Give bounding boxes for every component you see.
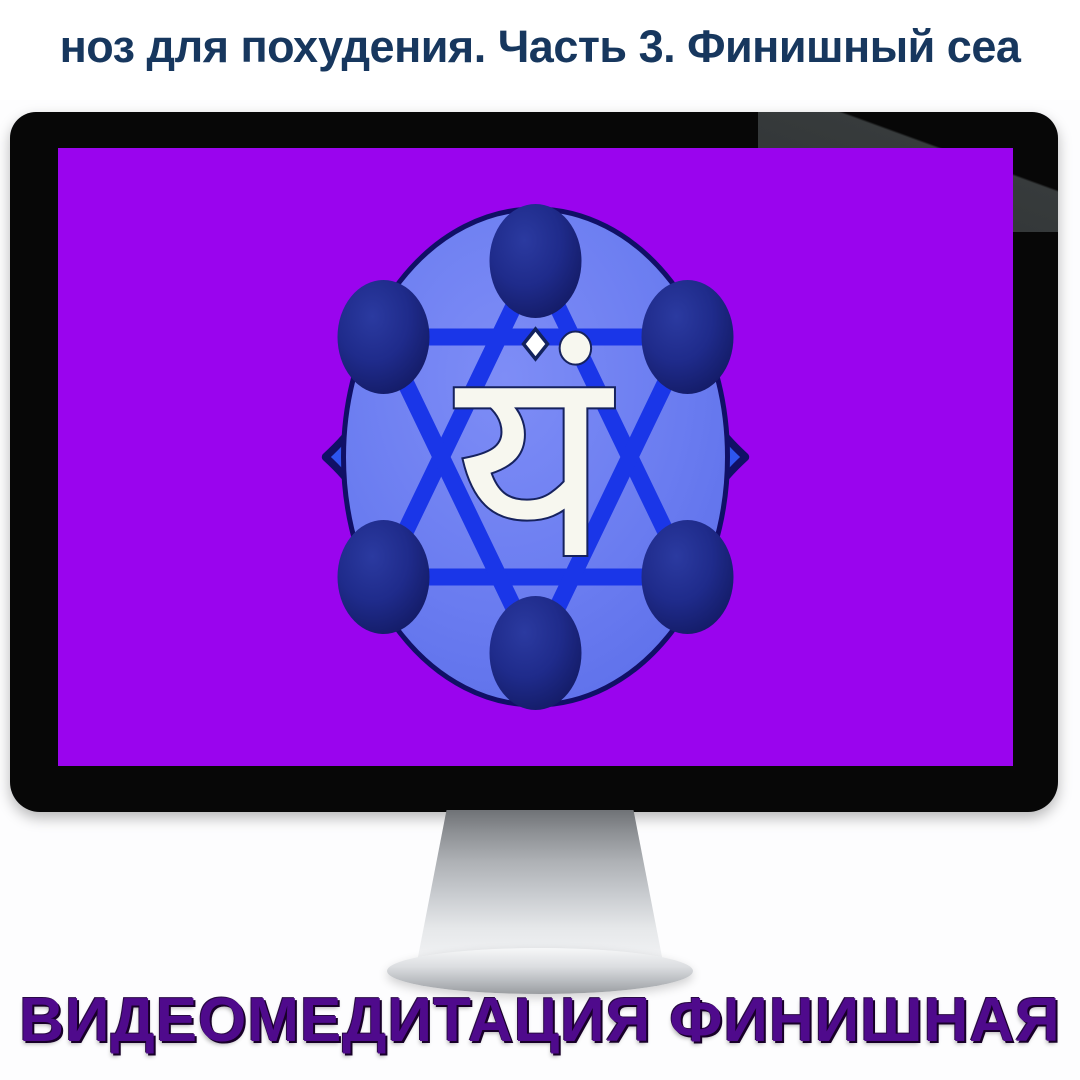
title-banner: ноз для похудения. Часть 3. Финишный сеа	[0, 0, 1080, 100]
chakra-mandala-illustration: यं	[58, 148, 1013, 766]
desktop-monitor: यं	[10, 112, 1058, 812]
promo-graphic-root: ноз для похудения. Часть 3. Финишный сеа	[0, 0, 1080, 1080]
caption-text: ВИДЕОМЕДИТАЦИЯ ФИНИШНАЯ	[0, 985, 1080, 1056]
monitor-stand-neck	[417, 810, 663, 962]
monitor-bezel: यं	[10, 112, 1058, 812]
svg-text:यं: यं	[455, 307, 618, 619]
page-title: ноз для похудения. Часть 3. Финишный сеа	[60, 16, 1021, 78]
monitor-screen[interactable]: यं	[58, 148, 1013, 766]
bija-syllable-yam: यं	[455, 307, 618, 619]
